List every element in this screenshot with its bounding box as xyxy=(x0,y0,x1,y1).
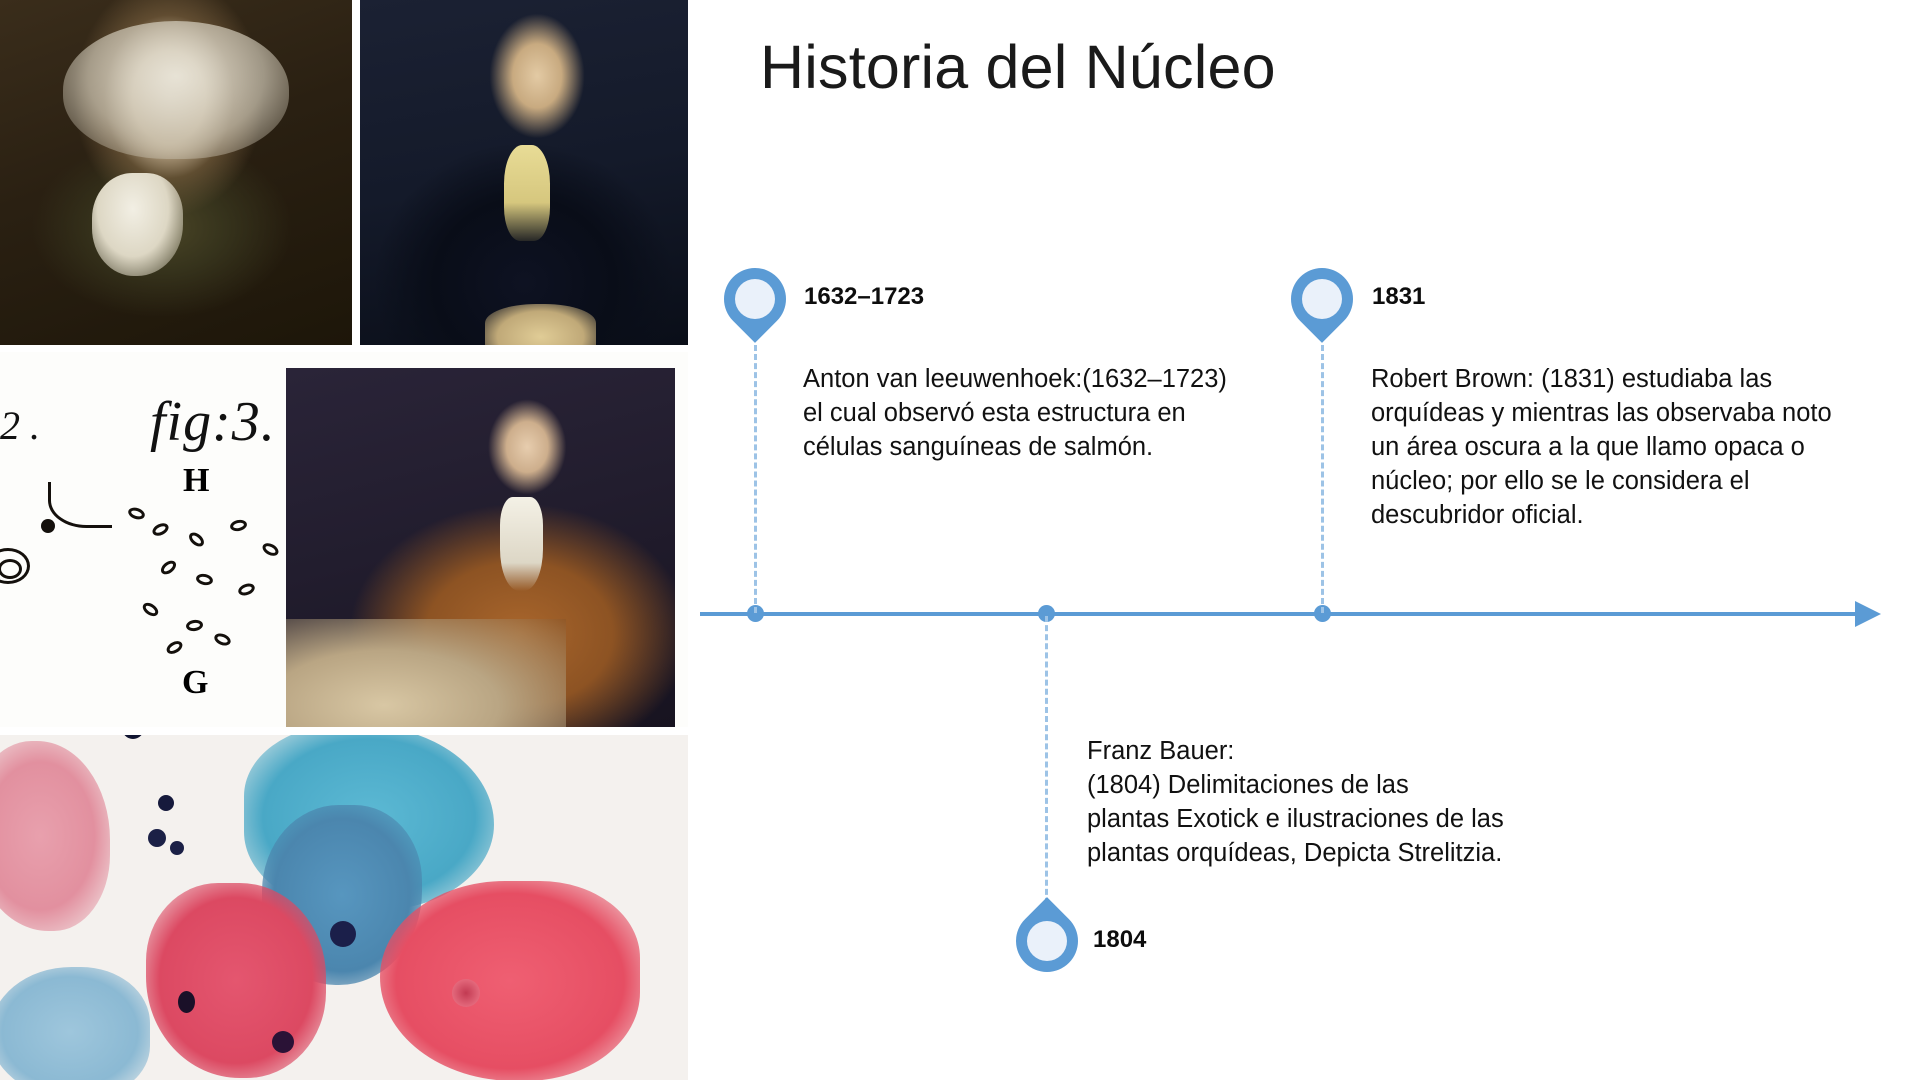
page-title: Historia del Núcleo xyxy=(760,32,1276,102)
cell-red xyxy=(146,883,326,1078)
timeline-pin-brown[interactable] xyxy=(1291,268,1353,346)
timeline-pin-bauer[interactable] xyxy=(1016,894,1078,972)
timeline-arrow-icon xyxy=(1855,601,1881,627)
drawn-swirl xyxy=(0,548,30,584)
timeline-axis xyxy=(700,612,1855,616)
fig-label-h: H xyxy=(183,462,209,500)
blood-cell-sketch xyxy=(213,631,233,648)
franz-bauer-portrait-image xyxy=(0,0,352,345)
cell-red-right xyxy=(380,881,640,1080)
connector-line-brown xyxy=(1321,345,1324,613)
timeline-year-leeuwenhoek: 1632–1723 xyxy=(804,283,924,311)
timeline-text-bauer: Franz Bauer: (1804) Delimitaciones de la… xyxy=(1087,735,1627,871)
blood-cell-sketch xyxy=(229,518,248,532)
slide-canvas: 2 . fig:3. H G xyxy=(0,0,1920,1080)
cell-blue-bottom-left xyxy=(0,967,150,1080)
timeline-text-brown: Robert Brown: (1831) estudiaba las orquí… xyxy=(1371,363,1849,533)
fig-number-label: fig:3. xyxy=(150,390,276,454)
blood-cell-sketch xyxy=(158,558,178,577)
drawn-hook xyxy=(48,482,112,528)
timeline-year-bauer: 1804 xyxy=(1093,926,1146,954)
connector-line-leeuwenhoek xyxy=(754,345,757,613)
fig-prefix-label: 2 . xyxy=(0,402,40,449)
blood-cell-sketch xyxy=(186,530,206,549)
blood-cell-sketch xyxy=(237,581,257,597)
map-pin-icon xyxy=(711,255,799,343)
timeline-pin-leeuwenhoek[interactable] xyxy=(724,268,786,346)
debris-dot xyxy=(122,735,144,739)
debris-dot xyxy=(148,829,166,847)
cell-nucleus xyxy=(272,1031,294,1053)
timeline-year-brown: 1831 xyxy=(1372,283,1425,311)
stained-epithelial-cells-micrograph-image xyxy=(0,735,688,1080)
image-column: 2 . fig:3. H G xyxy=(0,0,688,1080)
blood-cell-sketch xyxy=(185,619,203,632)
blood-cell-sketch xyxy=(140,600,160,619)
connector-line-bauer xyxy=(1045,616,1048,913)
blood-cell-sketch xyxy=(127,506,147,522)
blood-cell-sketch xyxy=(150,521,170,538)
map-pin-icon xyxy=(1003,897,1091,985)
cell-nucleus xyxy=(330,921,356,947)
blood-cell-sketch xyxy=(164,638,184,656)
debris-dot xyxy=(158,795,174,811)
blood-cell-sketch xyxy=(195,572,214,586)
anton-van-leeuwenhoek-portrait-image xyxy=(286,368,675,727)
robert-brown-portrait-image xyxy=(360,0,688,345)
map-pin-icon xyxy=(1278,255,1366,343)
timeline-text-leeuwenhoek: Anton van leeuwenhoek:(1632–1723) el cua… xyxy=(803,363,1243,465)
cell-nucleus xyxy=(452,979,480,1007)
fig-label-g: G xyxy=(182,664,208,702)
blood-cell-sketch xyxy=(260,541,280,559)
cell-nucleus xyxy=(178,991,195,1013)
cell-pink xyxy=(0,741,110,931)
debris-dot xyxy=(170,841,184,855)
